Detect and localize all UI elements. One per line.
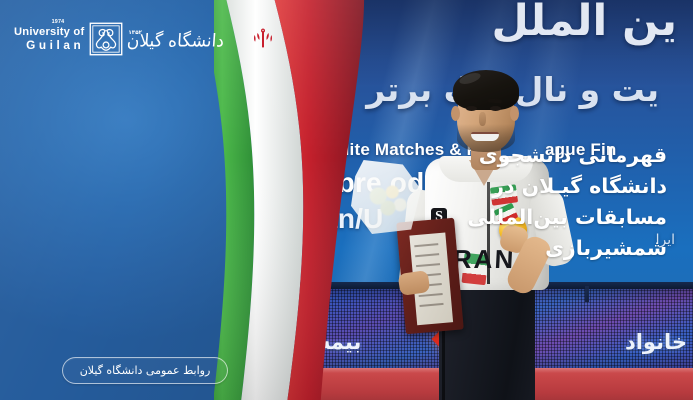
athlete-nose	[479, 112, 486, 126]
headline-line-2: دانشگاه گیـلان در	[445, 171, 667, 202]
logo-english-line-1: University of	[14, 27, 84, 39]
athlete-eye-left	[466, 106, 477, 111]
logo-english-line-2: Guilan	[26, 39, 84, 51]
sponsor-khanevadeh: خانواد	[625, 330, 687, 354]
headline-line-1: قهرمانی دانشجوی	[445, 140, 667, 171]
logo-year-latin: 1974	[52, 20, 65, 26]
led-board-post	[305, 286, 309, 302]
logo-english-text: 1974 University of Guilan	[14, 27, 84, 51]
led-board-post	[585, 286, 589, 302]
headline-line-4: شمشیربازی	[445, 233, 667, 264]
text-panel	[0, 0, 300, 400]
athlete-ear-right	[510, 106, 519, 121]
logo-persian-text: ۱۳۵۲ دانشگاه گیلان	[128, 27, 224, 51]
logo-persian-name: دانشگاه گیلان	[127, 31, 225, 52]
public-relations-badge-label: روابط عمومی دانشگاه گیلان	[80, 364, 211, 377]
iran-national-emblem-icon	[253, 26, 273, 52]
athlete-hair	[453, 70, 519, 110]
athlete-ear-left	[451, 106, 460, 121]
page-title: قهرمانی دانشجوی دانشگاه گیـلان در مسابقا…	[445, 140, 667, 265]
guilan-birds-emblem-icon	[89, 22, 123, 56]
athlete-eye-right	[490, 106, 501, 111]
university-logo[interactable]: 1974 University of Guilan ۱۳۵۲ دانشگاه گ…	[14, 22, 224, 56]
news-banner: ین الملل یت و نال لیگ برتر Satellite Mat…	[0, 0, 693, 400]
public-relations-badge[interactable]: روابط عمومی دانشگاه گیلان	[62, 357, 228, 384]
headline-line-3: مسابقات بین‌المللی	[445, 202, 667, 233]
